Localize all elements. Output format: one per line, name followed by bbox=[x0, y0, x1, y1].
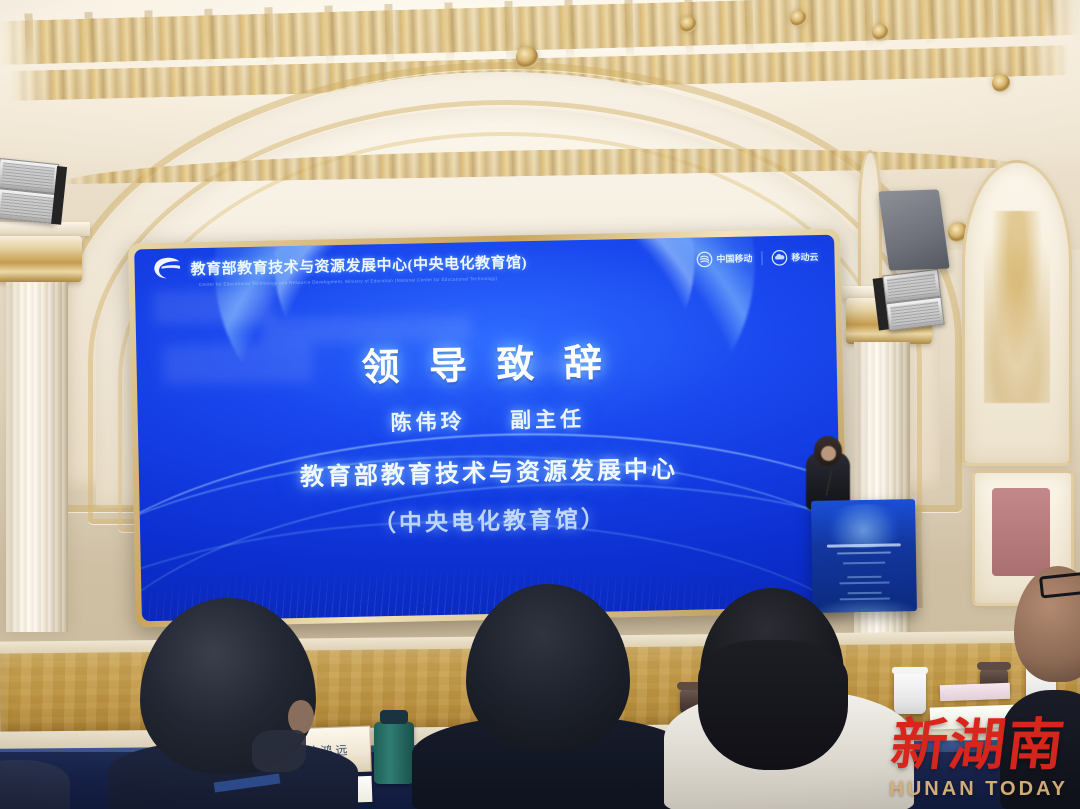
teacup-lid bbox=[977, 662, 1011, 670]
sponsor-logo-row: 中国移动 移动云 bbox=[696, 249, 818, 268]
screen-header: 教育部教育技术与资源发展中心(中央电化教育馆) Center for Educa… bbox=[152, 249, 527, 281]
photo-canvas: 教育部教育技术与资源发展中心(中央电化教育馆) Center for Educa… bbox=[0, 0, 1080, 809]
audience-person-mask bbox=[252, 730, 306, 772]
podium-banner-line bbox=[848, 576, 881, 579]
ceiling-rosette bbox=[790, 10, 806, 26]
document-paper bbox=[940, 683, 1011, 701]
speaker-array-left bbox=[0, 158, 79, 232]
wall-monitor-right bbox=[878, 189, 949, 270]
wall-panel-right-1 bbox=[962, 160, 1072, 466]
ceiling-rosette bbox=[992, 74, 1010, 92]
podium-banner-title bbox=[826, 543, 901, 547]
podium-banner-subtitle bbox=[837, 552, 891, 555]
column-capital-left bbox=[0, 236, 82, 282]
paper-cup bbox=[894, 672, 926, 714]
screen-wave-graphics bbox=[134, 412, 842, 621]
audience-person bbox=[1000, 690, 1080, 809]
podium bbox=[811, 499, 917, 613]
china-mobile-icon bbox=[696, 251, 712, 267]
thermos-cap bbox=[380, 710, 409, 724]
column-left bbox=[6, 282, 68, 632]
ceiling-rosette bbox=[872, 24, 888, 40]
mobile-cloud-label: 移动云 bbox=[791, 253, 818, 263]
thermos-bottle bbox=[374, 722, 414, 784]
ceiling-rosette bbox=[680, 16, 696, 32]
audience-person-ear bbox=[288, 700, 314, 734]
speaker-array-right bbox=[872, 268, 955, 341]
led-screen-frame: 教育部教育技术与资源发展中心(中央电化教育馆) Center for Educa… bbox=[128, 229, 848, 628]
panel-ornament bbox=[984, 211, 1051, 403]
audience-person-hair bbox=[698, 640, 848, 770]
led-screen[interactable]: 教育部教育技术与资源发展中心(中央电化教育馆) Center for Educa… bbox=[134, 235, 842, 622]
glasses-icon bbox=[1039, 571, 1080, 598]
column-fluting bbox=[6, 282, 68, 632]
logo-divider bbox=[761, 251, 762, 265]
podium-bottom-wave bbox=[813, 589, 917, 613]
e-swoosh-icon bbox=[152, 256, 182, 281]
screen-reflection bbox=[153, 288, 274, 325]
podium-globe-graphic bbox=[820, 503, 907, 548]
podium-banner-line bbox=[839, 582, 889, 585]
presenter-face bbox=[821, 446, 836, 461]
mobile-cloud-logo: 移动云 bbox=[771, 249, 818, 266]
china-mobile-label: 中国移动 bbox=[716, 254, 752, 264]
cloud-icon bbox=[771, 250, 787, 266]
podium-banner-line bbox=[843, 562, 885, 565]
china-mobile-logo: 中国移动 bbox=[696, 250, 752, 267]
ceiling-rosette bbox=[516, 46, 538, 68]
panel-red-inlay bbox=[992, 488, 1050, 576]
cup-lid bbox=[892, 667, 928, 674]
